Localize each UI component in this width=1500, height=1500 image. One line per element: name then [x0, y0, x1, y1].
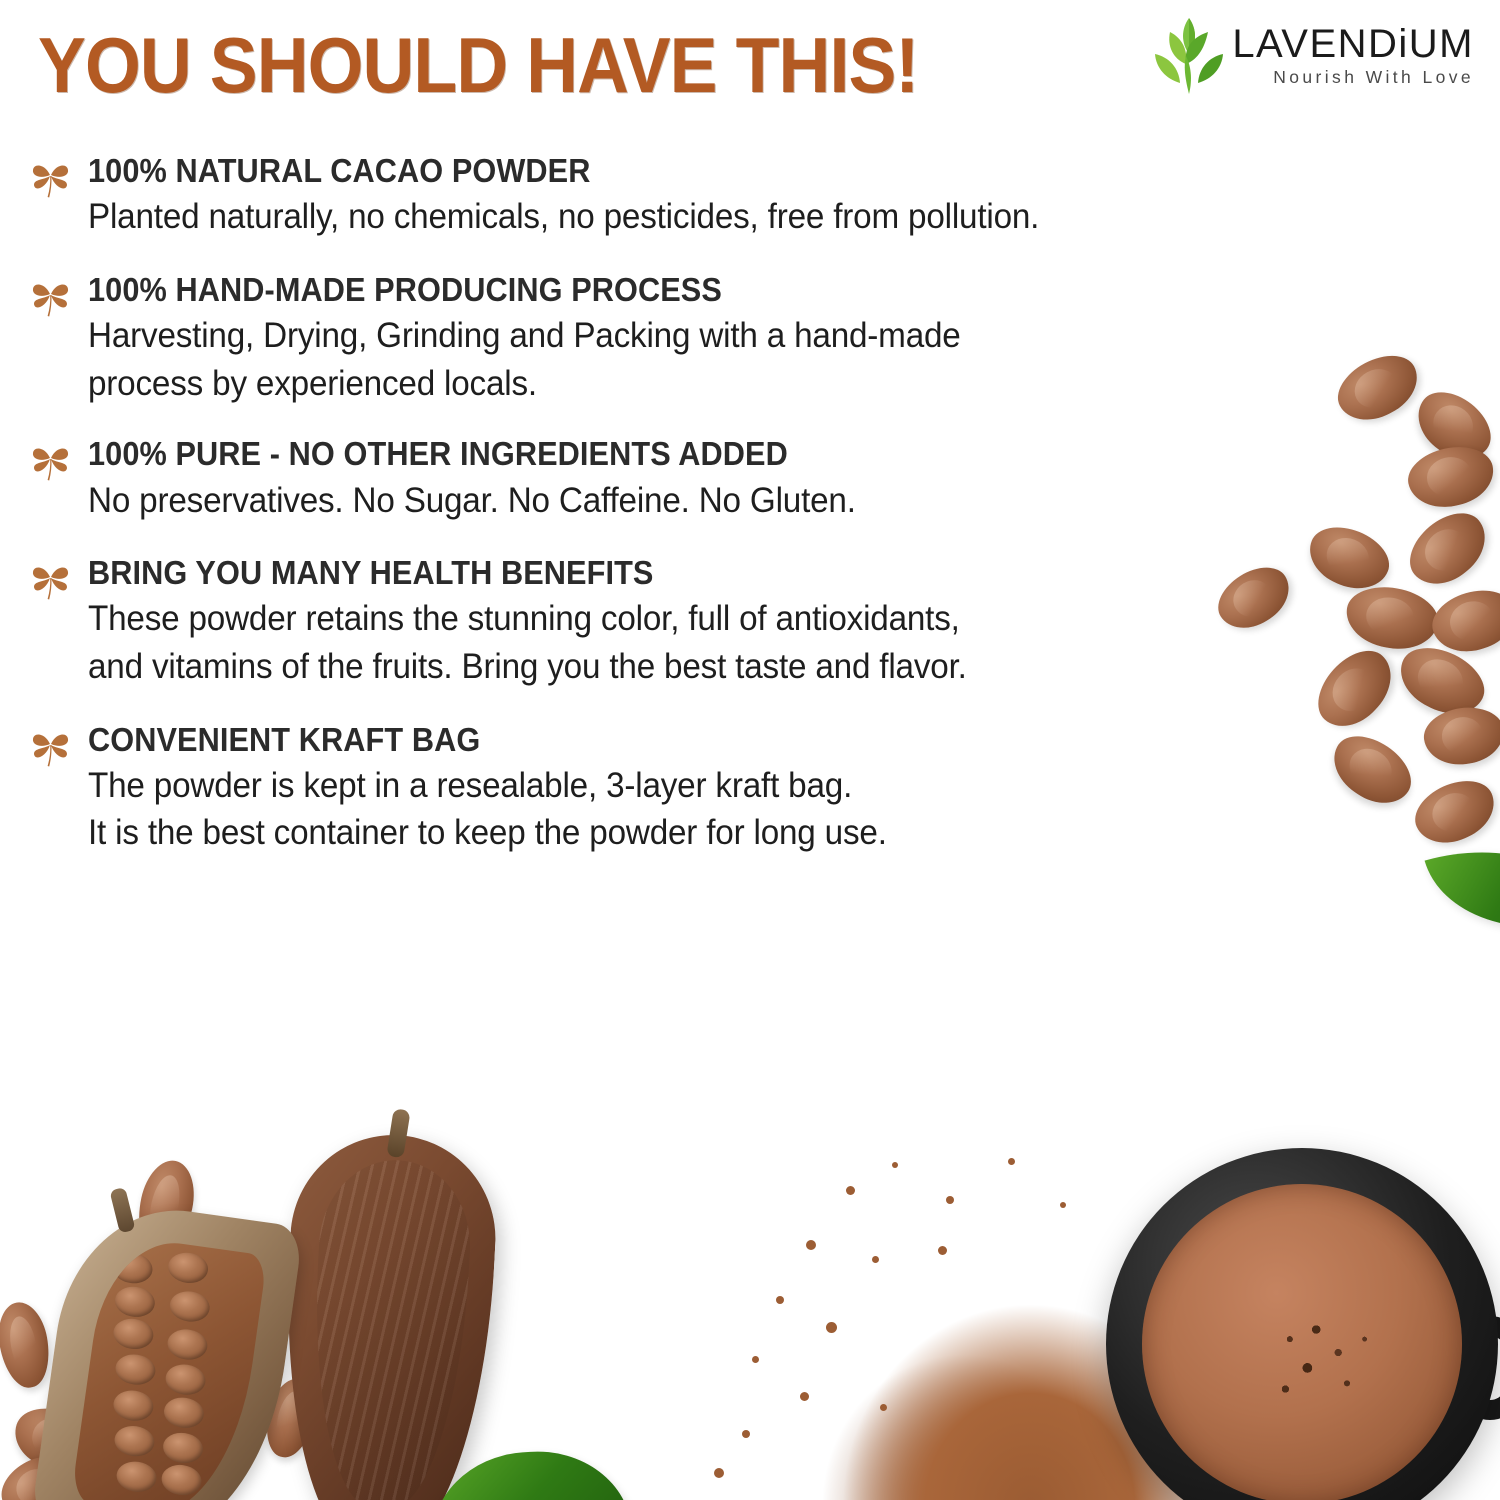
- logo-wordmark: LAVENDiUM Nourish With Love: [1232, 24, 1474, 89]
- feature-body-line: These powder retains the stunning color,…: [88, 595, 1391, 643]
- cacao-bean: [0, 1298, 55, 1391]
- feature-title: 100% PURE - NO OTHER INGREDIENTS ADDED: [88, 435, 1364, 473]
- feature-body-line: Harvesting, Drying, Grinding and Packing…: [88, 312, 1391, 360]
- feature-body-line: and vitamins of the fruits. Bring you th…: [88, 643, 1391, 691]
- feature-title: CONVENIENT KRAFT BAG: [88, 721, 1364, 759]
- powder-speck: [714, 1468, 724, 1478]
- brand-logo: LAVENDiUM Nourish With Love: [1152, 16, 1474, 96]
- feature-title: 100% HAND-MADE PRODUCING PROCESS: [88, 271, 1364, 309]
- powder-speck: [826, 1322, 837, 1333]
- feature-body-line: process by experienced locals.: [88, 360, 1391, 408]
- feature-item: BRING YOU MANY HEALTH BENEFITS These pow…: [0, 554, 1460, 690]
- powder-speck: [892, 1162, 898, 1168]
- feature-body: These powder retains the stunning color,…: [88, 595, 1391, 690]
- cacao-bean: [252, 1230, 309, 1321]
- feature-list: 100% NATURAL CACAO POWDER Planted natura…: [0, 152, 1460, 887]
- four-leaf-clover-icon: [30, 725, 72, 769]
- feature-body-line: Planted naturally, no chemicals, no pest…: [88, 193, 1391, 241]
- four-leaf-clover-icon: [30, 558, 72, 602]
- feature-body: No preservatives. No Sugar. No Caffeine.…: [88, 477, 1391, 525]
- page-title: YOU SHOULD HAVE THIS!: [38, 26, 918, 104]
- cocoa-dusting: [1270, 1318, 1380, 1414]
- feature-item: 100% HAND-MADE PRODUCING PROCESS Harvest…: [0, 271, 1460, 407]
- feature-body-line: No preservatives. No Sugar. No Caffeine.…: [88, 477, 1391, 525]
- powder-speck: [1008, 1158, 1015, 1165]
- powder-speck: [1060, 1202, 1066, 1208]
- powder-speck: [800, 1392, 809, 1401]
- powder-speck: [938, 1246, 947, 1255]
- pod-husk: [30, 1196, 304, 1500]
- cacao-bean: [259, 1374, 323, 1463]
- feature-item: 100% NATURAL CACAO POWDER Planted natura…: [0, 152, 1460, 241]
- infographic-page: YOU SHOULD HAVE THIS! LAVENDiUM Nourish …: [0, 0, 1500, 1500]
- pod-bean-cavity: [70, 1233, 267, 1500]
- hot-chocolate-liquid: [1142, 1184, 1462, 1500]
- header: YOU SHOULD HAVE THIS! LAVENDiUM Nourish …: [0, 0, 1500, 130]
- feature-body: The powder is kept in a resealable, 3-la…: [88, 762, 1391, 857]
- powder-speck: [752, 1356, 759, 1363]
- split-cacao-pod: [30, 1196, 304, 1500]
- cup-handle: [1448, 1316, 1500, 1420]
- feature-title: 100% NATURAL CACAO POWDER: [88, 152, 1364, 190]
- four-leaf-clover-icon: [30, 275, 72, 319]
- powder-speck: [946, 1196, 954, 1204]
- whole-cacao-pod: [274, 1130, 500, 1500]
- powder-speck: [806, 1240, 816, 1250]
- powder-speck: [880, 1404, 887, 1411]
- cacao-bean: [188, 1328, 282, 1411]
- powder-speck: [742, 1430, 750, 1438]
- powder-speck: [846, 1186, 855, 1195]
- powder-speck: [776, 1296, 784, 1304]
- brand-name: LAVENDiUM: [1232, 24, 1474, 65]
- cacao-bean: [0, 1445, 83, 1500]
- feature-item: 100% PURE - NO OTHER INGREDIENTS ADDED N…: [0, 435, 1460, 524]
- powder-speck: [872, 1256, 879, 1263]
- cacao-bean: [131, 1156, 201, 1259]
- pod-stem: [109, 1187, 135, 1234]
- green-leaf-bottom: [426, 1445, 633, 1500]
- hot-chocolate-cup: [1106, 1148, 1498, 1500]
- brand-tagline: Nourish With Love: [1232, 67, 1474, 88]
- feature-body-line: The powder is kept in a resealable, 3-la…: [88, 762, 1391, 810]
- cacao-bean: [7, 1399, 101, 1479]
- feature-body: Harvesting, Drying, Grinding and Packing…: [88, 312, 1391, 407]
- feature-title: BRING YOU MANY HEALTH BENEFITS: [88, 554, 1364, 592]
- leaf-plant-icon: [1152, 16, 1226, 96]
- feature-item: CONVENIENT KRAFT BAG The powder is kept …: [0, 721, 1460, 857]
- feature-body-line: It is the best container to keep the pow…: [88, 809, 1391, 857]
- four-leaf-clover-icon: [30, 156, 72, 200]
- feature-body: Planted naturally, no chemicals, no pest…: [88, 193, 1391, 241]
- four-leaf-clover-icon: [30, 439, 72, 483]
- cocoa-powder-pile: [770, 1215, 1190, 1500]
